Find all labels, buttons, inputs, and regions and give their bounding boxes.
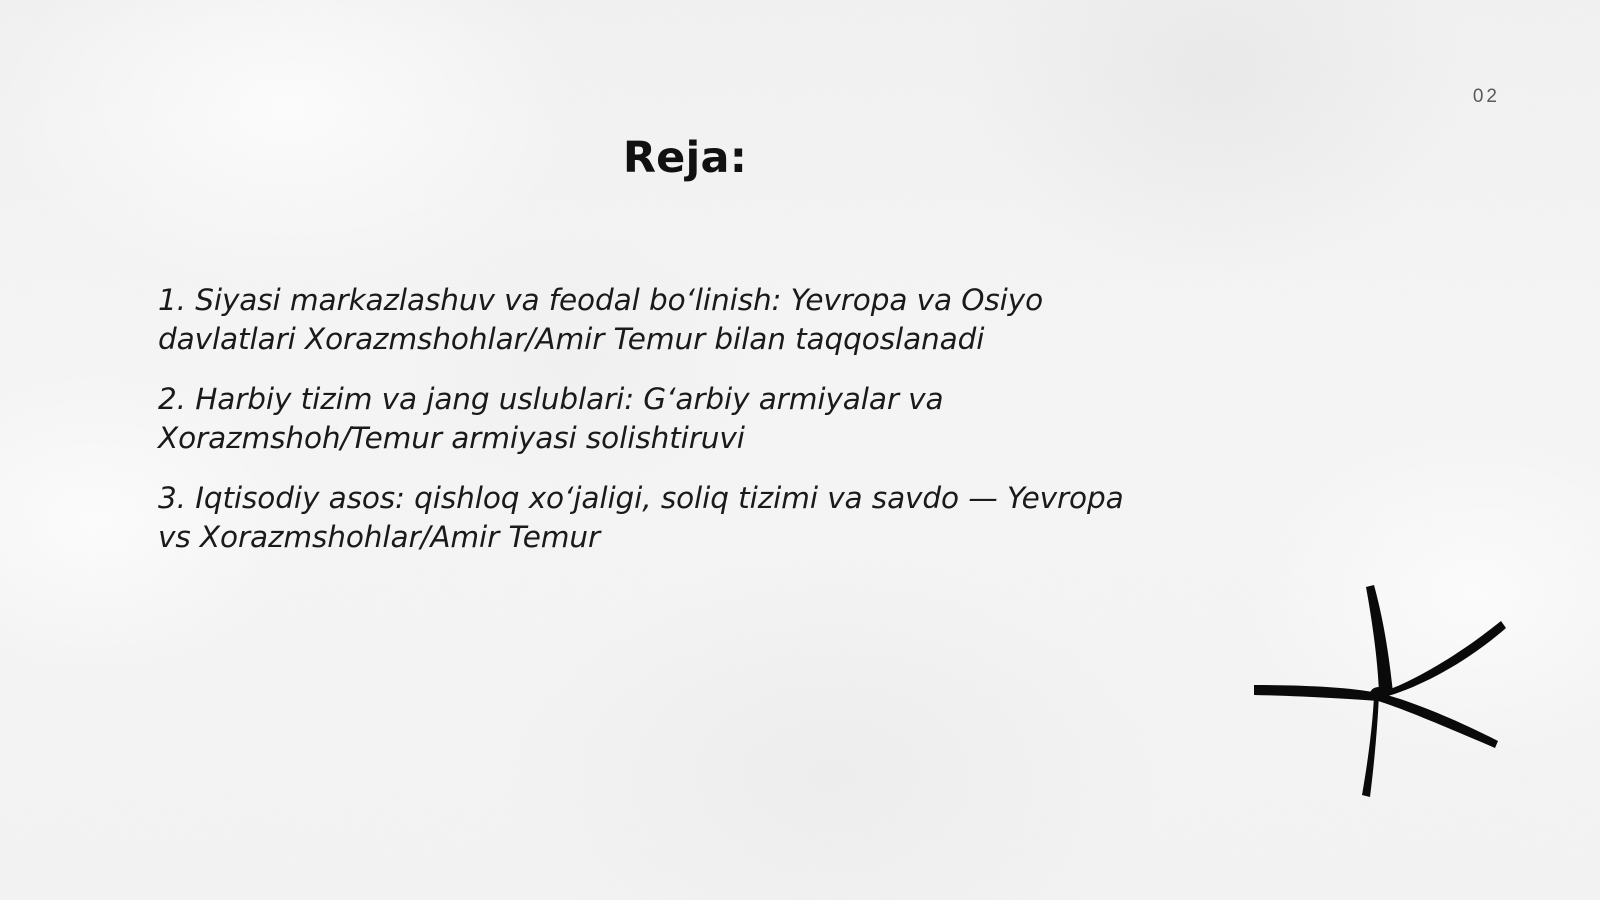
page-title: Reja: bbox=[0, 133, 1370, 183]
list-item: 3. Iqtisodiy asos: qishloq xo‘jaligi, so… bbox=[158, 479, 1148, 557]
list-item: 1. Siyasi markazlashuv va feodal bo‘lini… bbox=[158, 281, 1148, 359]
page-number: 02 bbox=[1473, 86, 1500, 108]
slide-canvas: 02 Reja: 1. Siyasi markazlashuv va feoda… bbox=[0, 0, 1600, 900]
list-item: 2. Harbiy tizim va jang uslublari: G‘arb… bbox=[158, 380, 1148, 458]
five-point-sparkle-icon bbox=[1248, 575, 1516, 807]
plan-list: 1. Siyasi markazlashuv va feodal bo‘lini… bbox=[158, 281, 1148, 557]
